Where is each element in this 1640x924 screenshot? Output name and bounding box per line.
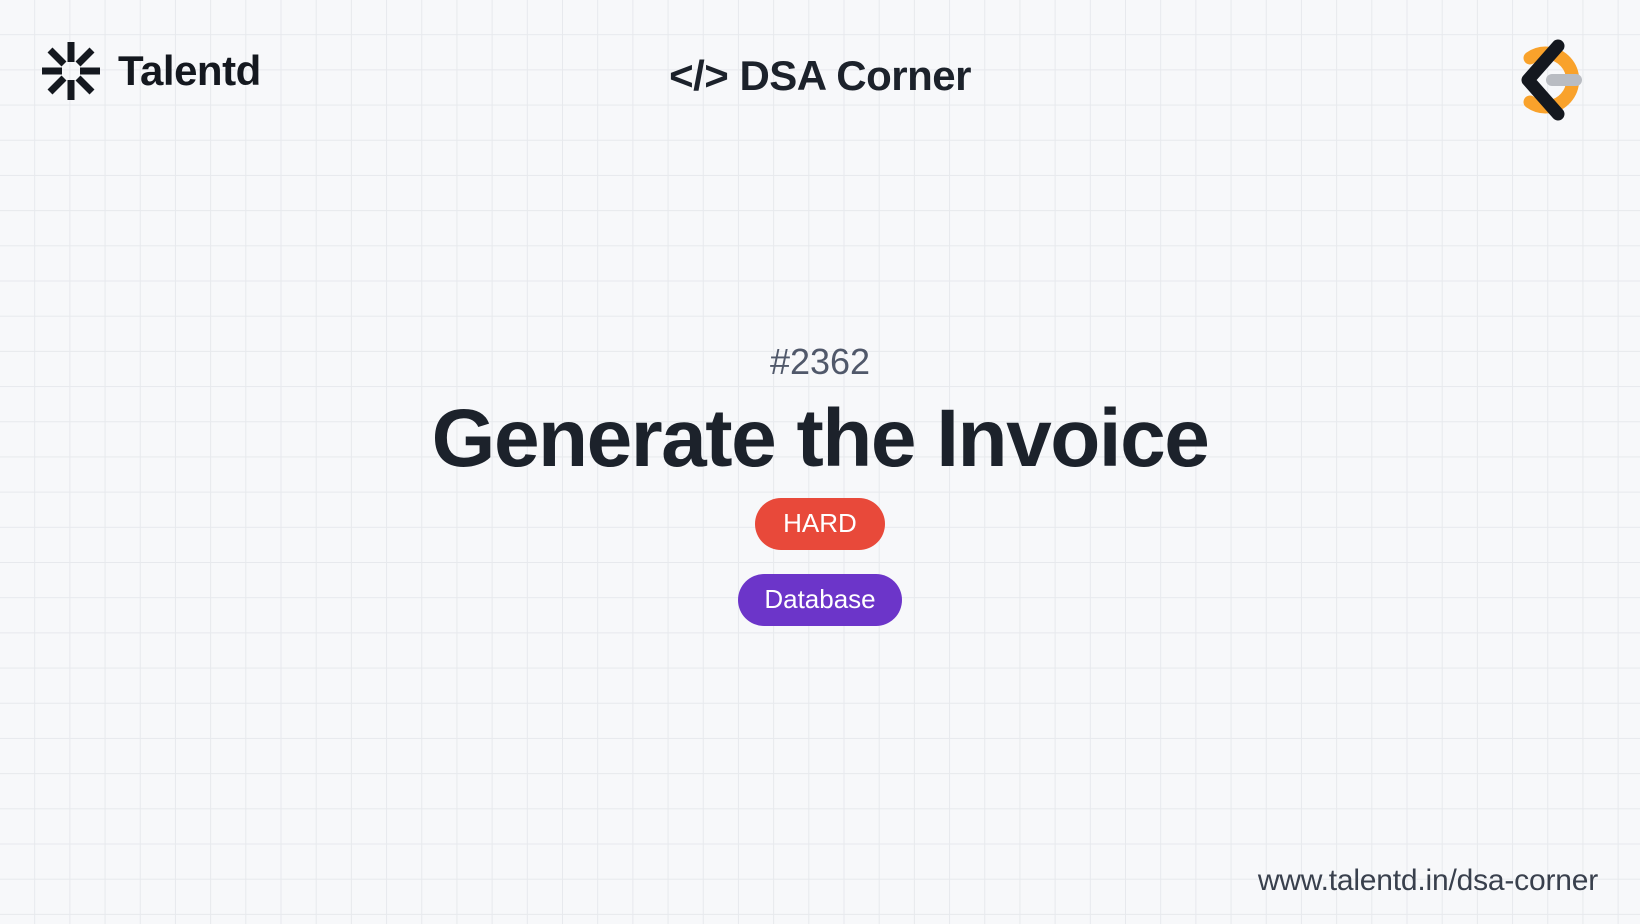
page-title: </> DSA Corner xyxy=(0,52,1640,100)
problem-title: Generate the Invoice xyxy=(432,395,1209,484)
topic-tag-list: Database xyxy=(738,574,901,626)
problem-card: #2362 Generate the Invoice HARD Database xyxy=(0,340,1640,626)
page-header: Talentd </> DSA Corner xyxy=(0,0,1640,160)
footer-url: www.talentd.in/dsa-corner xyxy=(1258,864,1598,898)
difficulty-badge: HARD xyxy=(755,498,885,550)
topic-tag: Database xyxy=(738,574,901,626)
problem-number: #2362 xyxy=(770,340,870,383)
